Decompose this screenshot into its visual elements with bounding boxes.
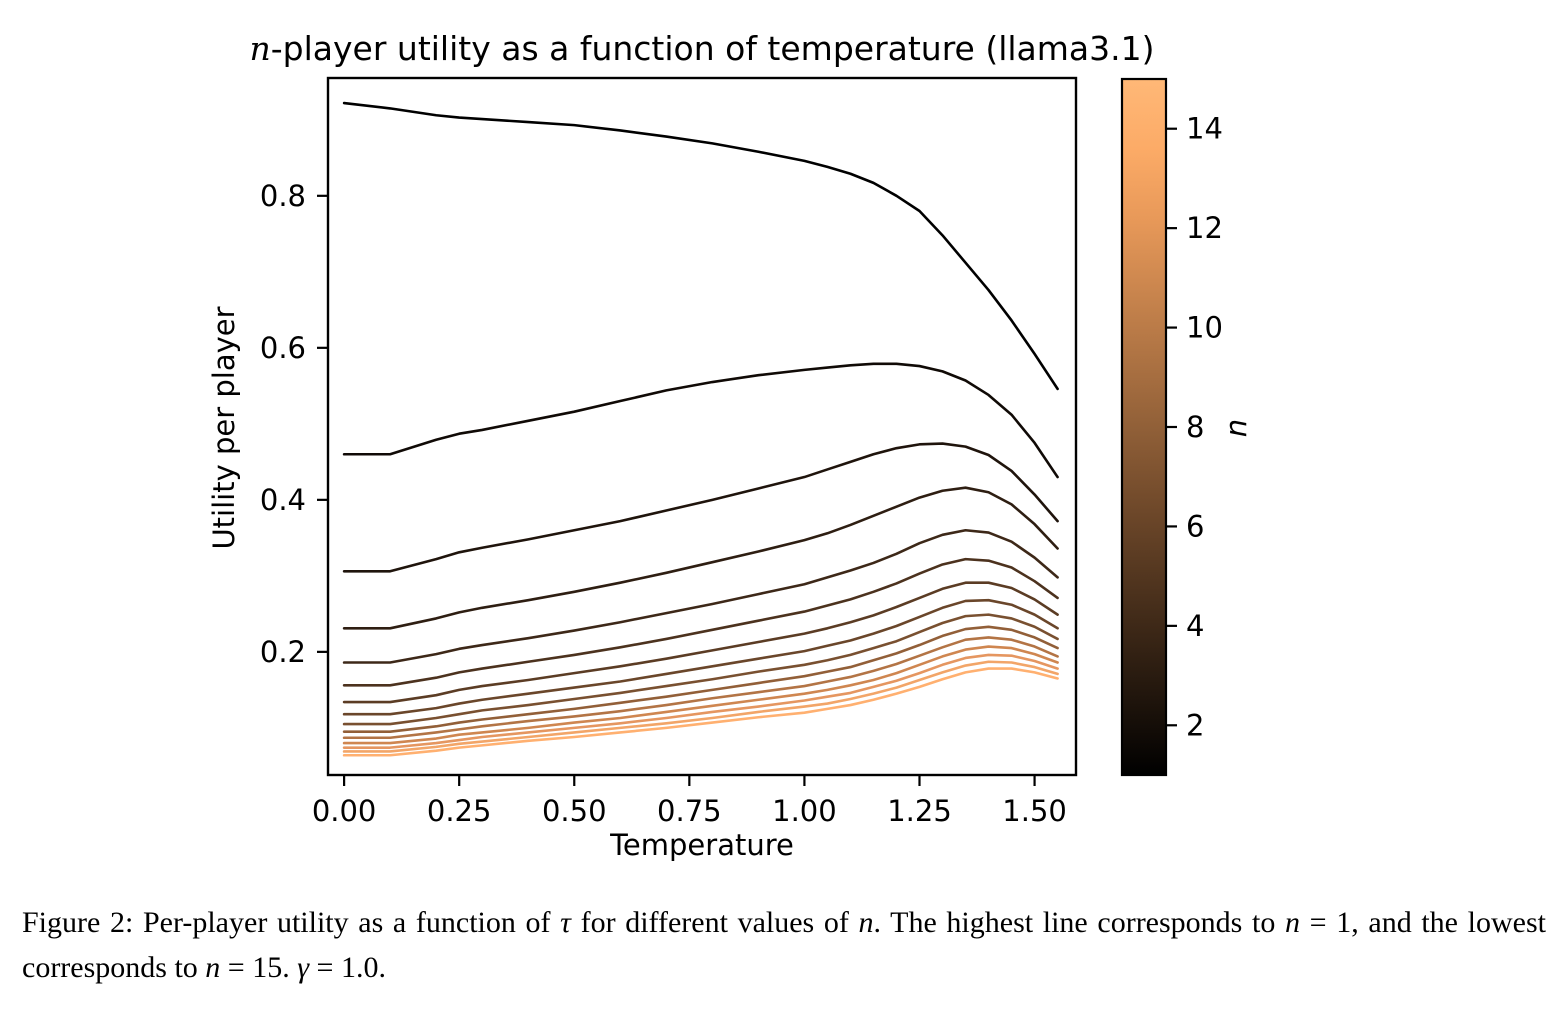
colorbar-tick-label: 14 — [1186, 112, 1223, 146]
x-tick-label: 0.75 — [657, 794, 722, 828]
axes-background — [328, 78, 1076, 775]
x-tick-label: 0.00 — [312, 794, 377, 828]
colorbar-gradient — [1122, 79, 1166, 775]
x-tick-label: 0.50 — [542, 794, 607, 828]
x-axis-label: Temperature — [609, 828, 794, 862]
chart-title: n-player utility as a function of temper… — [250, 29, 1155, 68]
x-tick-label: 0.25 — [427, 794, 492, 828]
caption-text-2: for different values of — [571, 906, 859, 939]
figure-container: 0.000.250.500.751.001.251.50 0.20.40.60.… — [0, 0, 1566, 880]
chart-plot: 0.000.250.500.751.001.251.50 0.20.40.60.… — [0, 0, 1566, 880]
x-tick-label: 1.00 — [772, 794, 837, 828]
x-tick-layer: 0.000.250.500.751.001.251.50 — [312, 775, 1067, 828]
x-tick-label: 1.50 — [1002, 794, 1067, 828]
caption-symbol-n-2: n — [1285, 906, 1300, 939]
y-tick-label: 0.2 — [260, 635, 306, 669]
caption-text-8: = 15. — [220, 951, 297, 984]
colorbar-tick-layer: 2468101214 — [1166, 112, 1223, 743]
y-tick-label: 0.8 — [260, 179, 306, 213]
y-tick-label: 0.4 — [260, 483, 306, 517]
y-axis-label: Utility per player — [207, 306, 241, 549]
caption-text-10: = 1.0. — [309, 951, 386, 984]
y-tick-label: 0.6 — [260, 331, 306, 365]
figure-caption: Figure 2: Per-player utility as a functi… — [22, 900, 1546, 990]
colorbar-label: n — [1219, 419, 1253, 437]
caption-symbol-tau: τ — [560, 906, 571, 939]
caption-symbol-n-1: n — [859, 906, 874, 939]
caption-text-4: . The highest line corresponds to — [874, 906, 1285, 939]
colorbar-tick-label: 12 — [1186, 211, 1223, 245]
caption-symbol-gamma: γ — [297, 951, 309, 984]
caption-text-0: Figure 2: Per-player utility as a functi… — [22, 906, 560, 939]
colorbar-tick-label: 2 — [1186, 708, 1204, 742]
y-tick-layer: 0.20.40.60.8 — [260, 179, 328, 669]
colorbar-tick-label: 8 — [1186, 410, 1204, 444]
colorbar-tick-label: 6 — [1186, 509, 1204, 543]
caption-symbol-n-3: n — [205, 951, 220, 984]
colorbar-tick-label: 10 — [1186, 311, 1223, 345]
colorbar-tick-label: 4 — [1186, 609, 1204, 643]
x-tick-label: 1.25 — [887, 794, 952, 828]
